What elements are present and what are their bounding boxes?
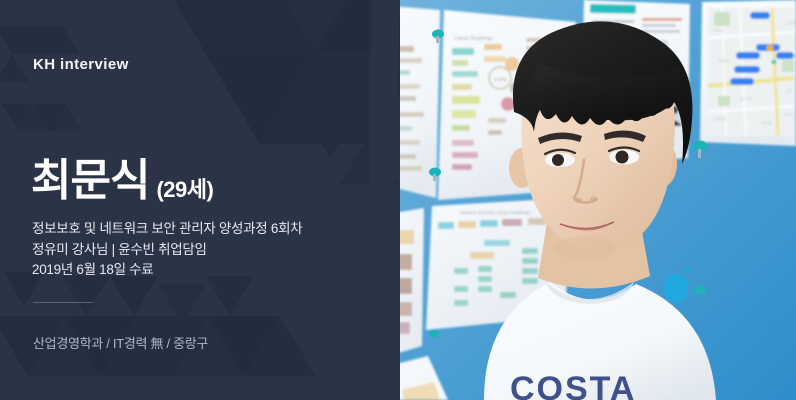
interview-photo: Career Roadmap CORE	[388, 0, 796, 400]
course-detail-line: 정보보호 및 네트워크 보안 관리자 양성과정 6회차	[32, 219, 302, 240]
interview-banner: Career Roadmap CORE	[0, 0, 796, 400]
interviewee-name: 최문식	[31, 159, 149, 203]
name-row: 최문식 (29세)	[31, 159, 213, 203]
course-details: 정보보호 및 네트워크 보안 관리자 양성과정 6회차 정유미 강사님 | 윤수…	[32, 219, 302, 281]
interviewee-age: (29세)	[156, 179, 213, 203]
info-panel: KH interview 최문식 (29세) 정보보호 및 네트워크 보안 관리…	[0, 0, 400, 400]
course-detail-line: 정유미 강사님 | 윤수빈 취업담임	[32, 240, 302, 261]
background-summary: 산업경영학과 / IT경력 無 / 중랑구	[33, 333, 208, 352]
brand-label: KH interview	[33, 56, 129, 73]
divider	[33, 302, 93, 303]
course-detail-line: 2019년 6월 18일 수료	[32, 260, 302, 281]
